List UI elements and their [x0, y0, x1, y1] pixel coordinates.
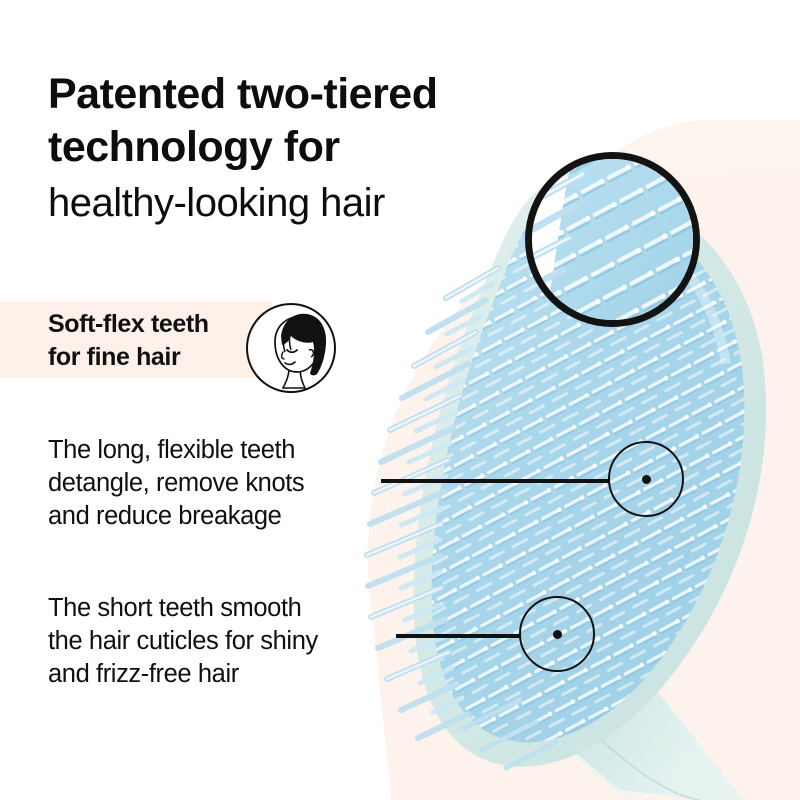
leader-line-long-teeth: [381, 479, 609, 483]
infographic-canvas: Patented two-tiered technology for healt…: [0, 0, 800, 800]
leader-line-short-teeth: [396, 634, 520, 638]
bristle-closeup-magnifier: [525, 152, 700, 327]
callout-long-teeth: The long, flexible teeth detangle, remov…: [48, 434, 304, 533]
marker-circle-long-teeth: [608, 441, 684, 517]
headline-line-1: Patented two-tiered: [48, 68, 568, 121]
headline-line-2: technology for: [48, 121, 568, 174]
marker-circle-short-teeth: [519, 596, 595, 672]
callout-soft-flex: Soft-flex teeth for fine hair: [48, 308, 209, 374]
woman-face-icon: [245, 302, 337, 394]
page-title: Patented two-tiered technology for healt…: [48, 68, 568, 230]
callout-short-teeth-text: The short teeth smooth the hair cuticles…: [48, 592, 318, 691]
magnifier-content: [525, 152, 700, 327]
marker-dot-short-teeth: [553, 630, 562, 639]
callout-short-teeth: The short teeth smooth the hair cuticles…: [48, 592, 318, 691]
callout-long-teeth-text: The long, flexible teeth detangle, remov…: [48, 434, 304, 533]
marker-dot-long-teeth: [642, 475, 651, 484]
callout-soft-flex-text: Soft-flex teeth for fine hair: [48, 308, 209, 374]
headline-line-3: healthy-looking hair: [48, 176, 568, 230]
